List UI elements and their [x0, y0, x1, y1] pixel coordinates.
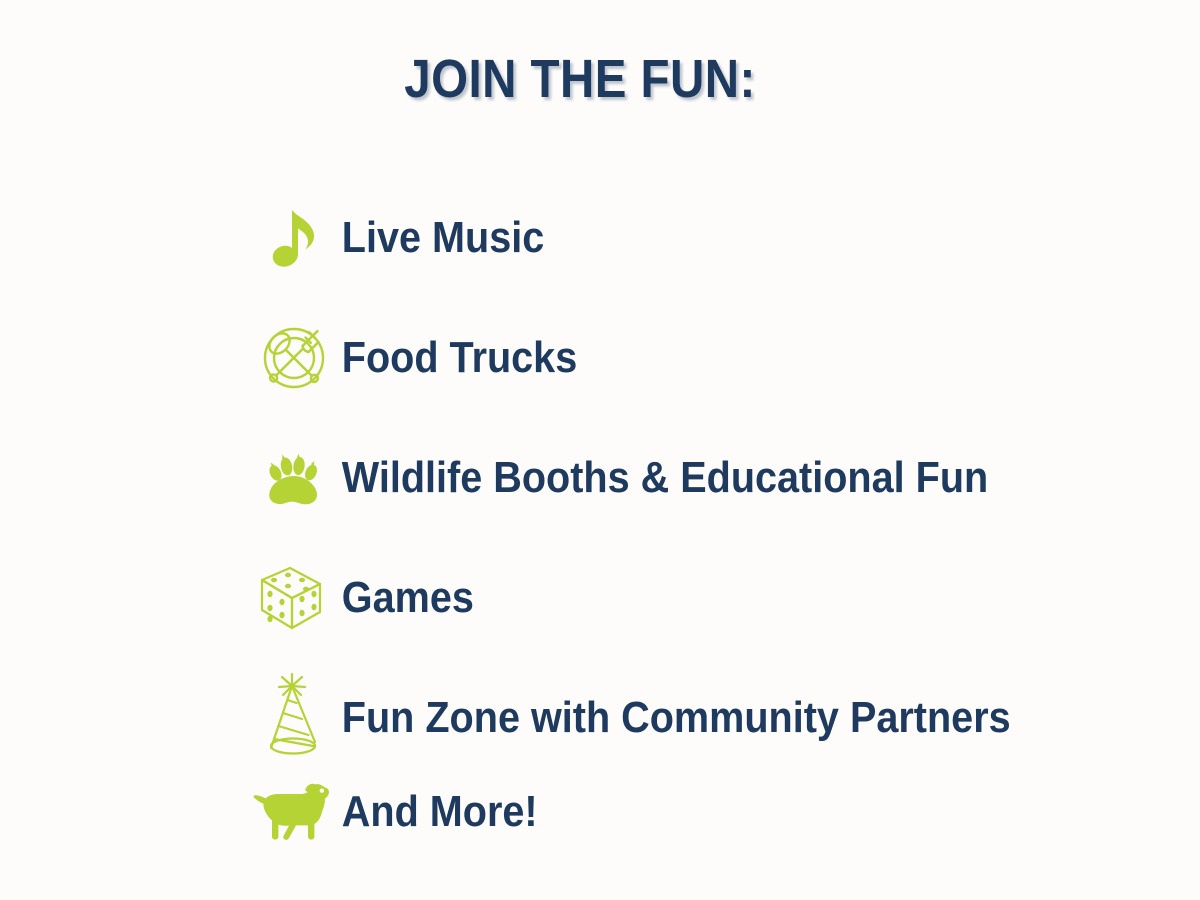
- list-item: Food Trucks: [248, 316, 1148, 400]
- music-note-icon: [248, 196, 340, 280]
- dice-icon: [248, 556, 340, 640]
- party-hat-icon: [248, 676, 340, 760]
- list-item: Wildlife Booths & Educational Fun: [248, 436, 1148, 520]
- list-item: Live Music: [248, 196, 1148, 280]
- slide-canvas: JOIN THE FUN: Live Music: [0, 0, 1200, 900]
- list-item: And More!: [248, 770, 1148, 854]
- list-item-label: Live Music: [340, 216, 544, 260]
- activities-list: Live Music: [248, 196, 1148, 880]
- list-item-label: Wildlife Booths & Educational Fun: [340, 456, 988, 500]
- bear-paw-print-icon: [248, 436, 340, 520]
- list-item-label: Games: [340, 576, 474, 620]
- list-item: Fun Zone with Community Partners: [248, 676, 1148, 760]
- list-item: Games: [248, 556, 1148, 640]
- page-title: JOIN THE FUN:: [70, 52, 1091, 106]
- list-item-label: And More!: [340, 790, 538, 834]
- fork-spoon-plate-icon: [248, 316, 340, 400]
- list-item-label: Food Trucks: [340, 336, 577, 380]
- dog-icon: [248, 770, 340, 854]
- list-item-label: Fun Zone with Community Partners: [340, 696, 1011, 740]
